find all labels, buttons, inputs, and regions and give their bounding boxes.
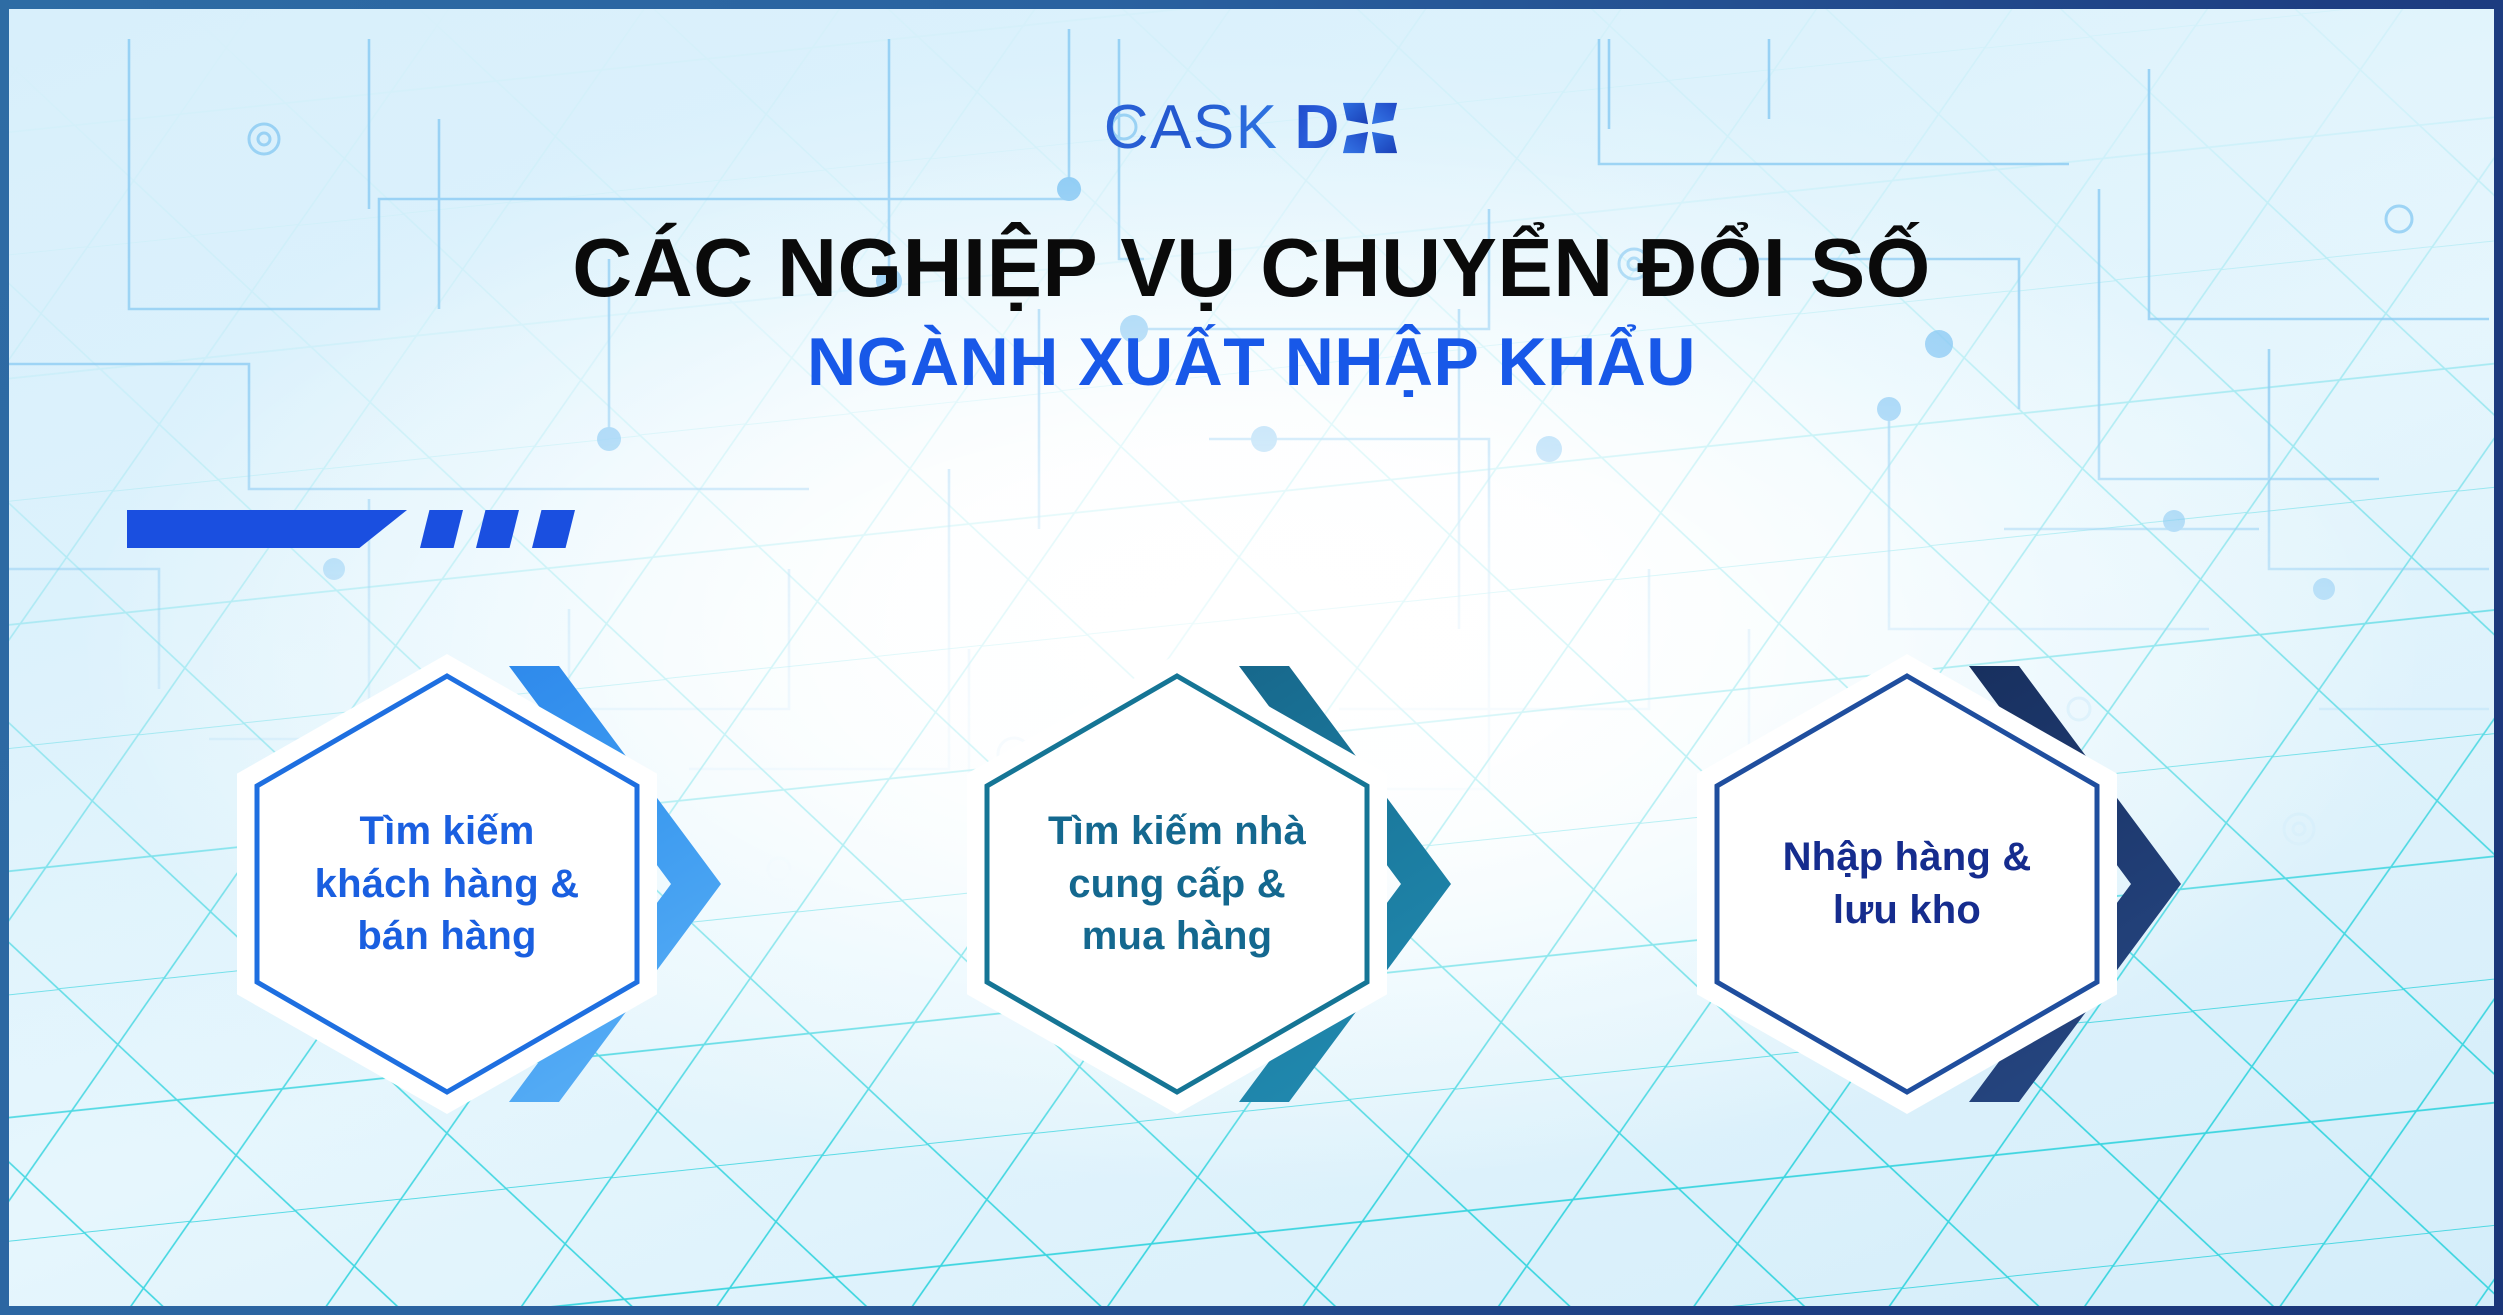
- step-card-3[interactable]: Nhập hàng & lưu kho: [1697, 654, 2257, 1114]
- step-label-1-line-1: Tìm kiếm: [360, 805, 535, 858]
- brand-logo: CASK D: [9, 97, 2494, 159]
- logo-dx-group: D: [1295, 97, 1400, 159]
- step-label-1-line-2: khách hàng &: [315, 858, 580, 911]
- accent-bar-main: [127, 510, 407, 548]
- dx-blade-x-icon: [1341, 99, 1399, 157]
- process-steps: Tìm kiếm khách hàng & bán hàng: [9, 654, 2494, 1114]
- step-label-3-line-2: lưu kho: [1833, 884, 1981, 937]
- title-block: CÁC NGHIỆP VỤ CHUYỂN ĐỔI SỐ NGÀNH XUẤT N…: [9, 224, 2494, 399]
- step-card-2[interactable]: Tìm kiếm nhà cung cấp & mua hàng: [967, 654, 1527, 1114]
- step-label-2-line-3: mua hàng: [1082, 910, 1273, 963]
- accent-bar-stripe-3: [532, 510, 575, 548]
- step-label-2-line-2: cung cấp &: [1068, 858, 1286, 911]
- step-label-2-line-1: Tìm kiếm nhà: [1048, 805, 1306, 858]
- page-title: CÁC NGHIỆP VỤ CHUYỂN ĐỔI SỐ: [9, 224, 2494, 311]
- logo-d-text: D: [1295, 97, 1340, 159]
- accent-bar: [127, 509, 575, 549]
- step-label-1-line-3: bán hàng: [357, 910, 536, 963]
- accent-bar-stripe-1: [420, 510, 463, 548]
- slide-root: CASK D: [0, 0, 2503, 1315]
- step-card-1[interactable]: Tìm kiếm khách hàng & bán hàng: [237, 654, 797, 1114]
- slide-canvas: CASK D: [9, 9, 2494, 1306]
- accent-bar-stripe-2: [476, 510, 519, 548]
- logo-cask-text: CASK: [1104, 97, 1279, 159]
- page-subtitle: NGÀNH XUẤT NHẬP KHẨU: [9, 327, 2494, 398]
- step-label-3-line-1: Nhập hàng &: [1783, 831, 2032, 884]
